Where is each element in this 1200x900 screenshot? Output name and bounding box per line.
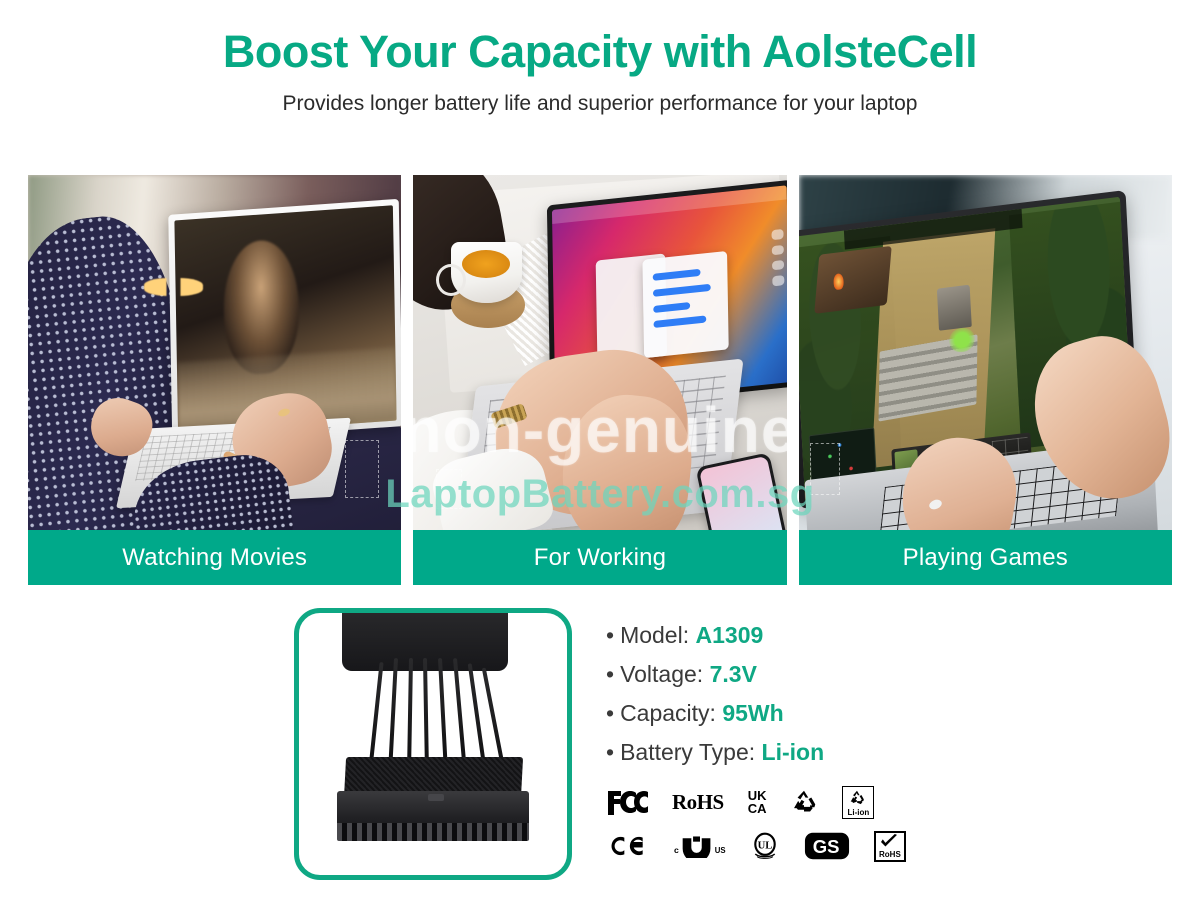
spec-label: Voltage: bbox=[620, 661, 703, 687]
dock-icon bbox=[772, 275, 784, 286]
rohs-check-icon: RoHS bbox=[874, 829, 906, 863]
dashed-marker bbox=[436, 469, 462, 509]
product-image-frame bbox=[294, 608, 572, 880]
spec-value: 7.3V bbox=[710, 661, 757, 687]
certification-badges: RoHS UK CA bbox=[606, 780, 906, 868]
spec-list: •Model: A1309 •Voltage: 7.3V •Capacity: … bbox=[606, 624, 906, 764]
spec-label: Battery Type: bbox=[620, 739, 755, 765]
rohs-check-label: RoHS bbox=[879, 850, 901, 859]
chat-bubble bbox=[653, 284, 711, 297]
wire bbox=[453, 658, 467, 773]
certification-row-1: RoHS UK CA bbox=[606, 780, 906, 824]
svg-text:GS: GS bbox=[813, 836, 840, 857]
wire bbox=[423, 658, 429, 773]
bullet-icon: • bbox=[606, 622, 614, 648]
desktop-dock bbox=[771, 229, 785, 338]
product-details-section: •Model: A1309 •Voltage: 7.3V •Capacity: … bbox=[0, 608, 1200, 900]
card-caption-playing-games: Playing Games bbox=[799, 530, 1172, 585]
game-tower bbox=[937, 284, 972, 330]
svg-text:UL: UL bbox=[758, 841, 773, 852]
photo-playing-games bbox=[799, 175, 1172, 530]
ce-icon bbox=[606, 829, 650, 863]
li-ion-label: Li-ion bbox=[847, 808, 869, 817]
fcc-icon bbox=[606, 785, 648, 819]
header: Boost Your Capacity with AolsteCell Prov… bbox=[0, 0, 1200, 116]
rohs-label: RoHS bbox=[672, 790, 724, 815]
game-base bbox=[815, 246, 892, 314]
card-caption-for-working: For Working bbox=[413, 530, 786, 585]
window-chat bbox=[642, 250, 728, 357]
spec-value: Li-ion bbox=[762, 739, 825, 765]
chat-bubble bbox=[653, 316, 706, 329]
specs-column: •Model: A1309 •Voltage: 7.3V •Capacity: … bbox=[606, 608, 906, 900]
spec-item-battery-type: •Battery Type: Li-ion bbox=[606, 741, 906, 764]
bullet-icon: • bbox=[606, 700, 614, 726]
ukca-icon: UK CA bbox=[748, 785, 767, 819]
ukca-line-2: CA bbox=[748, 802, 767, 815]
wire bbox=[438, 658, 448, 773]
wire-harness bbox=[369, 658, 508, 773]
card-playing-games[interactable]: Playing Games bbox=[799, 175, 1172, 585]
svg-text:c: c bbox=[674, 845, 679, 855]
card-watching-movies[interactable]: Watching Movies bbox=[28, 175, 401, 585]
chat-bubble bbox=[652, 269, 700, 281]
dock-icon bbox=[771, 244, 783, 255]
connector-pins bbox=[337, 823, 530, 841]
spec-value: A1309 bbox=[696, 622, 764, 648]
bullet-icon: • bbox=[606, 739, 614, 765]
card-caption-watching-movies: Watching Movies bbox=[28, 530, 401, 585]
spec-label: Model: bbox=[620, 622, 689, 648]
dock-icon bbox=[771, 229, 783, 240]
card-for-working[interactable]: For Working bbox=[413, 175, 786, 585]
game-fire bbox=[833, 273, 844, 290]
svg-text:US: US bbox=[715, 846, 726, 855]
spec-item-capacity: •Capacity: 95Wh bbox=[606, 702, 906, 725]
wire bbox=[407, 658, 413, 773]
spec-item-voltage: •Voltage: 7.3V bbox=[606, 663, 906, 686]
cul-us-icon: c US bbox=[674, 829, 726, 863]
certification-row-2: c US UL bbox=[606, 824, 906, 868]
li-ion-recycle-icon: Li-ion bbox=[842, 785, 874, 819]
spec-item-model: •Model: A1309 bbox=[606, 624, 906, 647]
photo-watching-movies bbox=[28, 175, 401, 530]
page-subtitle: Provides longer battery life and superio… bbox=[0, 92, 1200, 116]
chat-bubble bbox=[653, 302, 690, 313]
spec-label: Capacity: bbox=[620, 700, 716, 726]
dashed-marker bbox=[810, 443, 840, 495]
tea-liquid bbox=[462, 250, 511, 278]
cup-handle bbox=[436, 264, 466, 296]
rohs-icon: RoHS bbox=[672, 785, 724, 819]
ul-icon: UL bbox=[750, 829, 780, 863]
movie-character-eyes bbox=[144, 278, 204, 296]
recycle-icon bbox=[790, 785, 818, 819]
dock-icon bbox=[772, 260, 784, 271]
use-case-cards: Watching Movies bbox=[28, 175, 1172, 585]
gs-icon: GS bbox=[804, 829, 850, 863]
bullet-icon: • bbox=[606, 661, 614, 687]
spec-value: 95Wh bbox=[722, 700, 783, 726]
photo-for-working bbox=[413, 175, 786, 530]
dashed-marker bbox=[345, 440, 379, 498]
wire bbox=[388, 658, 398, 773]
page-title: Boost Your Capacity with AolsteCell bbox=[0, 26, 1200, 78]
connector-notch bbox=[428, 794, 444, 801]
promo-banner: Boost Your Capacity with AolsteCell Prov… bbox=[0, 0, 1200, 900]
